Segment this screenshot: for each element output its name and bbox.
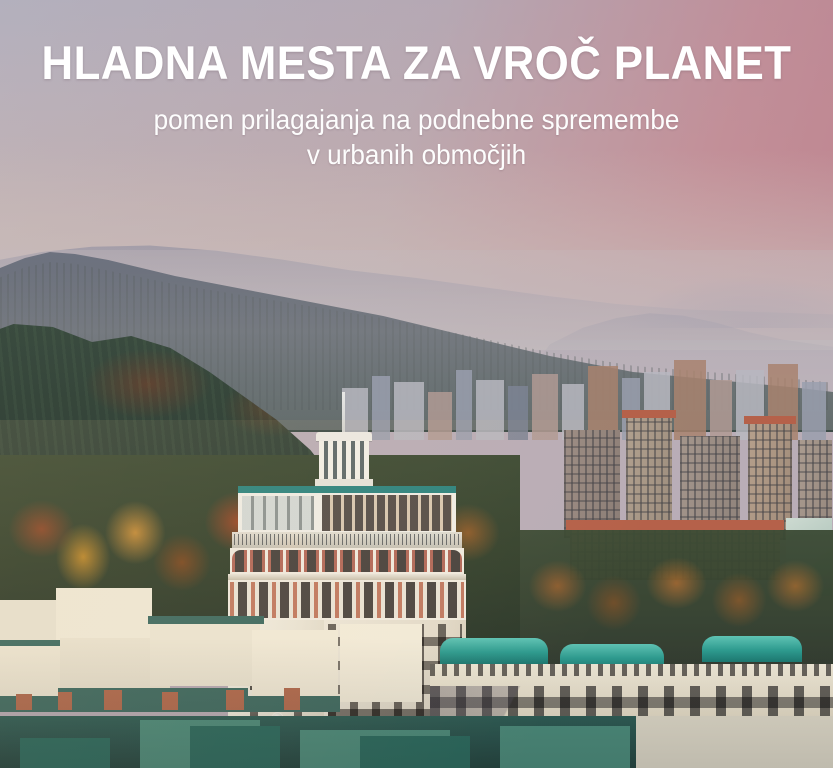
chimney [284,688,300,710]
clerestory-window-band [430,664,833,676]
chimney [226,690,244,710]
cover-subtitle-line-2: v urbanih območjih [21,137,812,172]
penthouse-glazing-left [242,496,314,530]
cover-title-block: HLADNA MESTA ZA VROČ PLANET pomen prilag… [0,38,833,172]
chimney [162,692,178,710]
chimney [16,694,32,710]
barrel-vault-roof [702,636,802,662]
rooftop-block [150,622,260,686]
chimney [58,692,72,710]
tower-colonnade [319,441,369,479]
cover-subtitle: pomen prilagajanja na podnebne spremembe… [21,102,812,172]
rooftop-block [252,630,338,696]
rooftop-block [0,646,66,698]
cover-subtitle-line-1: pomen prilagajanja na podnebne spremembe [21,102,812,137]
tower-lantern-roof [316,432,372,441]
penthouse-glazing-right [322,495,452,531]
barrel-vault-roof [440,638,548,664]
rooftop-block [340,624,422,702]
publication-cover: HLADNA MESTA ZA VROČ PLANET pomen prilag… [0,0,833,768]
tower-lantern-base [315,479,373,486]
tower-arches [232,550,462,572]
rooftop-block [56,588,152,644]
roof-deck [148,616,264,624]
terracotta-roof [622,410,676,418]
terracotta-roof [566,520,784,530]
foreground-rooftop-band [0,716,833,768]
chimney [104,690,122,710]
terrace-railing [234,534,460,545]
cover-main-title: HLADNA MESTA ZA VROČ PLANET [29,38,804,88]
terracotta-roof [744,416,796,424]
tower-mast [342,392,345,436]
